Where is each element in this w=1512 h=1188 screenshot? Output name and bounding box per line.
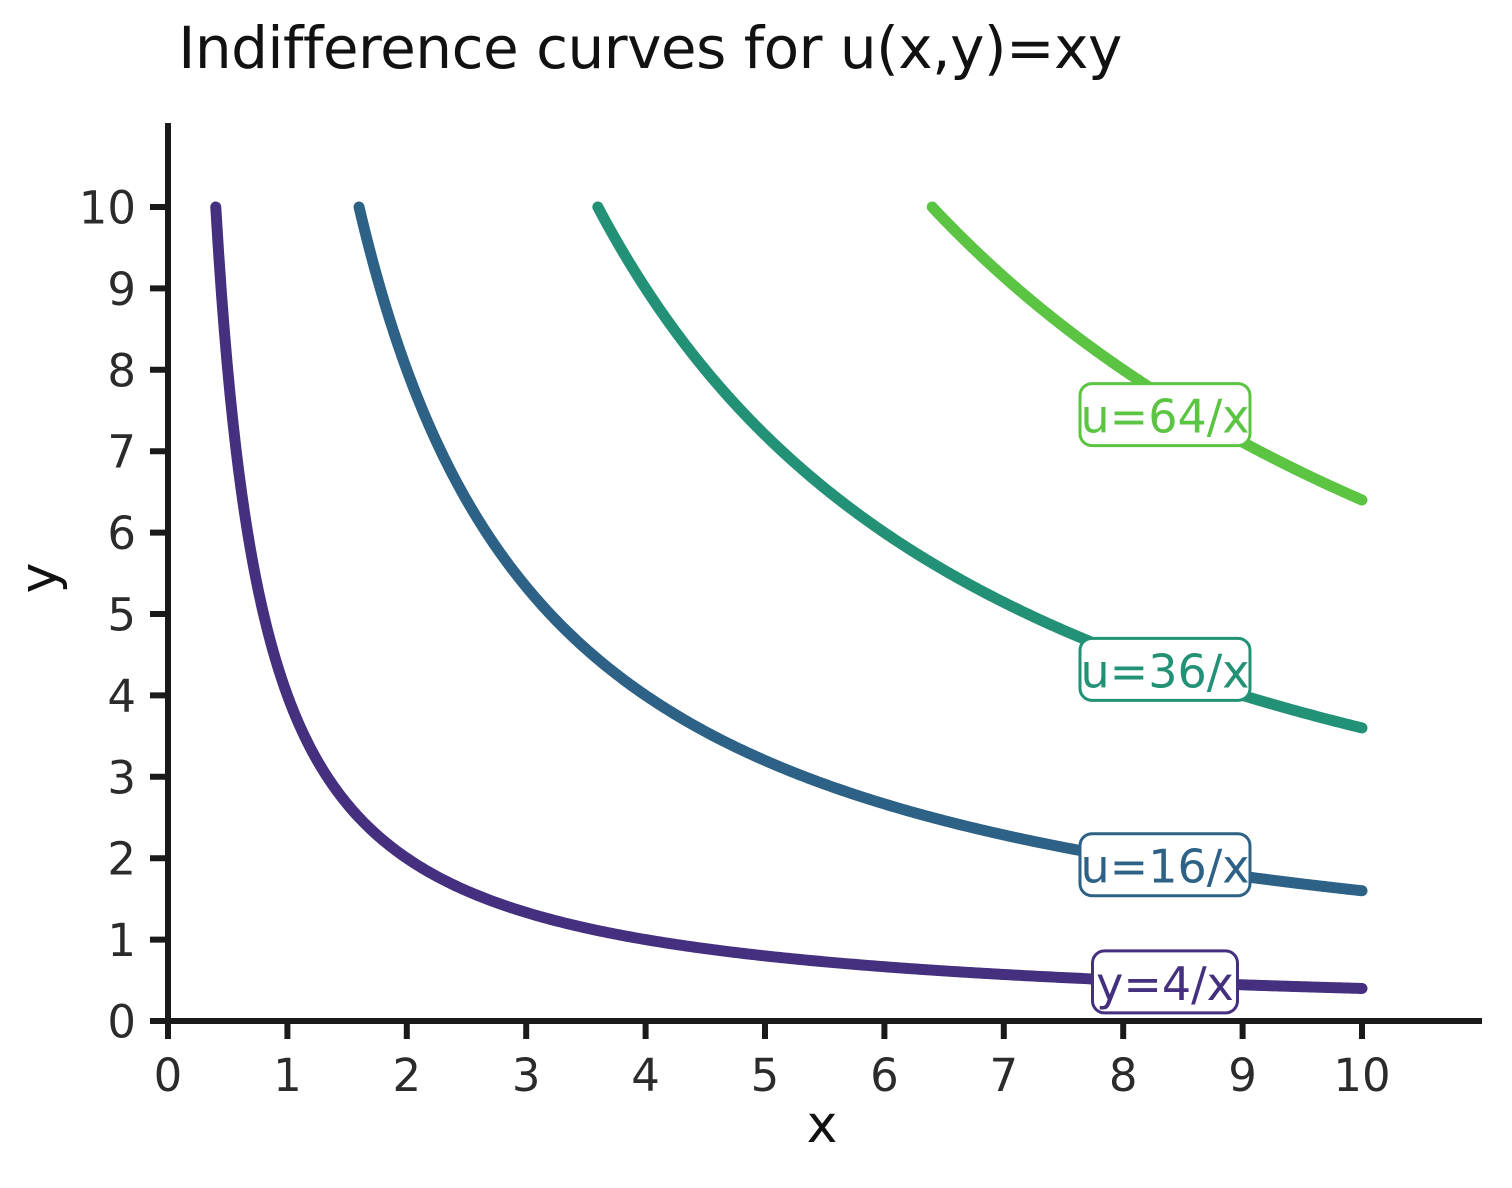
y-tick-label-4: 4 (107, 670, 136, 723)
curve-label-u-36-x: u=36/x (1080, 638, 1250, 700)
x-tick-label-1: 1 (273, 1049, 302, 1102)
y-tick-label-6: 6 (107, 507, 136, 560)
x-tick-label-10: 10 (1333, 1049, 1390, 1102)
y-axis-label: y (9, 563, 69, 594)
x-tick-label-8: 8 (1109, 1049, 1138, 1102)
y-tick-label-3: 3 (107, 751, 136, 804)
x-tick-label-7: 7 (989, 1049, 1018, 1102)
curve-label-u-16-x: u=16/x (1080, 834, 1250, 896)
y-tick-label-10: 10 (79, 182, 136, 235)
curve-labels-group: y=4/xu=16/xu=36/xu=64/x (1080, 384, 1250, 1013)
x-axis-ticks: 012345678910 (154, 1021, 1391, 1102)
x-tick-label-9: 9 (1228, 1049, 1257, 1102)
chart-figure: Indifference curves for u(x,y)=xy 012345… (0, 0, 1512, 1188)
y-tick-label-5: 5 (107, 589, 136, 642)
x-tick-label-5: 5 (751, 1049, 780, 1102)
x-tick-label-0: 0 (154, 1049, 183, 1102)
plot-area: 012345678910 012345678910 y=4/xu=16/xu=3… (0, 0, 1512, 1188)
curve-label-u-64-x: u=64/x (1080, 384, 1250, 446)
x-tick-label-4: 4 (631, 1049, 660, 1102)
curve-label-y-4-x: y=4/x (1092, 951, 1237, 1013)
curve-u-16-x (359, 207, 1362, 891)
x-axis-label: x (807, 1095, 838, 1155)
curve-label-y-4-x-text: y=4/x (1096, 957, 1234, 1011)
curve-label-u-16-x-text: u=16/x (1081, 840, 1250, 894)
curve-label-u-64-x-text: u=64/x (1081, 390, 1250, 444)
x-tick-label-3: 3 (512, 1049, 541, 1102)
curve-u-64-x (932, 207, 1362, 500)
y-tick-label-2: 2 (107, 833, 136, 886)
y-axis-ticks: 012345678910 (79, 182, 168, 1049)
y-tick-label-1: 1 (107, 914, 136, 967)
curve-label-u-36-x-text: u=36/x (1081, 644, 1250, 698)
y-tick-label-7: 7 (107, 426, 136, 479)
x-tick-label-2: 2 (392, 1049, 421, 1102)
y-tick-label-8: 8 (107, 344, 136, 397)
x-tick-label-6: 6 (870, 1049, 899, 1102)
y-tick-label-0: 0 (107, 996, 136, 1049)
y-tick-label-9: 9 (107, 263, 136, 316)
